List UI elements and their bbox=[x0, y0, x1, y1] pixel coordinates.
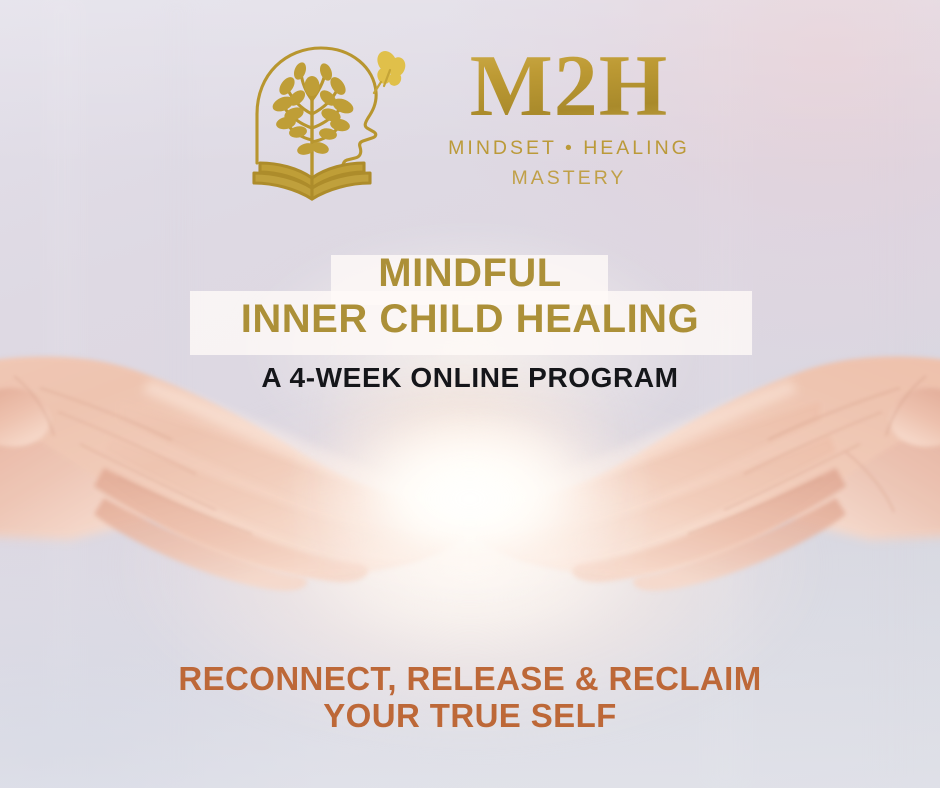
brand-wordmark-group: M2H MINDSET • HEALING MASTERY bbox=[448, 36, 690, 188]
brand-tagline-line2: MASTERY bbox=[448, 169, 690, 189]
butterfly-icon bbox=[374, 48, 406, 88]
brand-wordmark: M2H bbox=[448, 44, 690, 130]
head-profile-with-tree-and-book-icon bbox=[250, 36, 406, 206]
tagline: RECONNECT, RELEASE & RECLAIM YOUR TRUE S… bbox=[0, 661, 940, 735]
brand-logo: M2H MINDSET • HEALING MASTERY bbox=[0, 36, 940, 206]
headline-line2: INNER CHILD HEALING bbox=[0, 298, 940, 340]
poster-canvas: M2H MINDSET • HEALING MASTERY MINDFUL IN… bbox=[0, 0, 940, 788]
headline: MINDFUL INNER CHILD HEALING bbox=[0, 252, 940, 341]
tagline-line1: RECONNECT, RELEASE & RECLAIM bbox=[178, 660, 761, 697]
center-glow-core bbox=[260, 398, 680, 638]
tagline-line2: YOUR TRUE SELF bbox=[0, 698, 940, 735]
program-subtitle: A 4-WEEK ONLINE PROGRAM bbox=[0, 362, 940, 394]
headline-line1: MINDFUL bbox=[0, 252, 940, 294]
brand-tagline-line1: MINDSET • HEALING bbox=[448, 139, 690, 159]
